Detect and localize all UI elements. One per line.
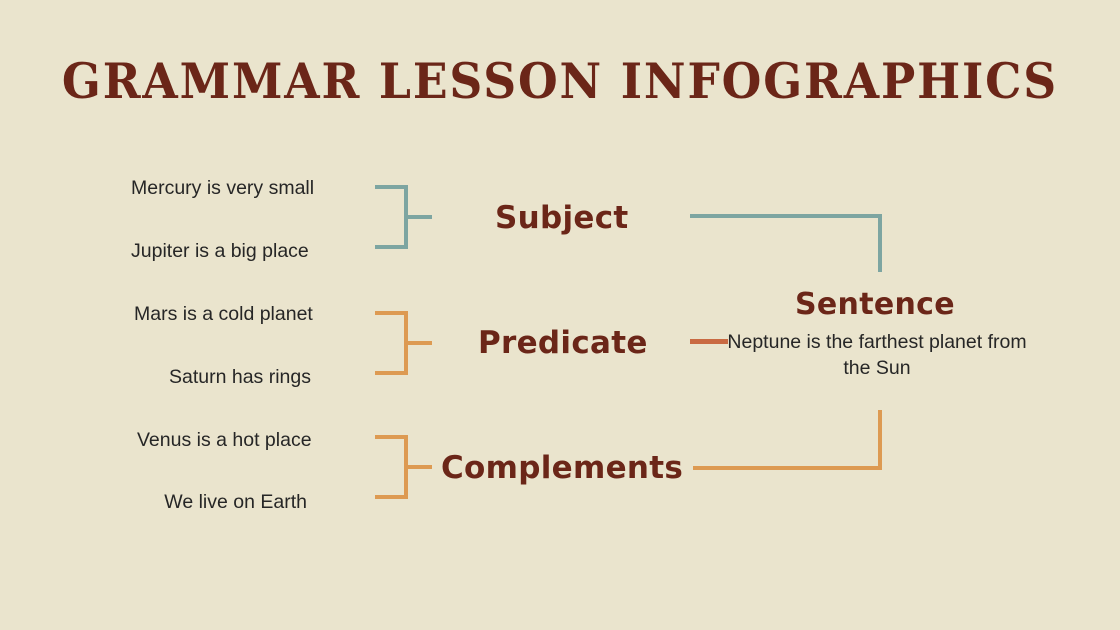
sentence-example-text: Neptune is the farthest planet from the …	[727, 330, 1027, 382]
bracket-predicate-stub	[404, 341, 432, 345]
connector-complements-to-sentence-vertical	[878, 410, 882, 470]
bracket-predicate-bottom-arm	[375, 371, 408, 375]
bracket-complements-stub	[404, 465, 432, 469]
infographic-slide: GRAMMAR LESSON INFOGRAPHICS Mercury is v…	[0, 0, 1120, 630]
connector-complements-to-sentence-horizontal	[693, 466, 882, 470]
example-complements-2: We live on Earth	[52, 490, 307, 514]
label-subject: Subject	[495, 200, 629, 236]
label-complements: Complements	[441, 450, 683, 486]
bracket-complements-bottom-arm	[375, 495, 408, 499]
example-subject-2: Jupiter is a big place	[131, 239, 309, 263]
connector-predicate-dash	[690, 339, 728, 344]
label-sentence: Sentence	[795, 287, 955, 322]
bracket-subject-bottom-arm	[375, 245, 408, 249]
page-title: GRAMMAR LESSON INFOGRAPHICS	[39, 52, 1081, 110]
connector-subject-to-sentence-horizontal	[690, 214, 882, 218]
example-predicate-2: Saturn has rings	[52, 365, 311, 389]
label-predicate: Predicate	[478, 325, 648, 361]
bracket-subject-stub	[404, 215, 432, 219]
example-predicate-1: Mars is a cold planet	[134, 302, 313, 326]
example-subject-1: Mercury is very small	[131, 176, 314, 200]
connector-subject-to-sentence-vertical	[878, 214, 882, 272]
example-complements-1: Venus is a hot place	[137, 428, 312, 452]
